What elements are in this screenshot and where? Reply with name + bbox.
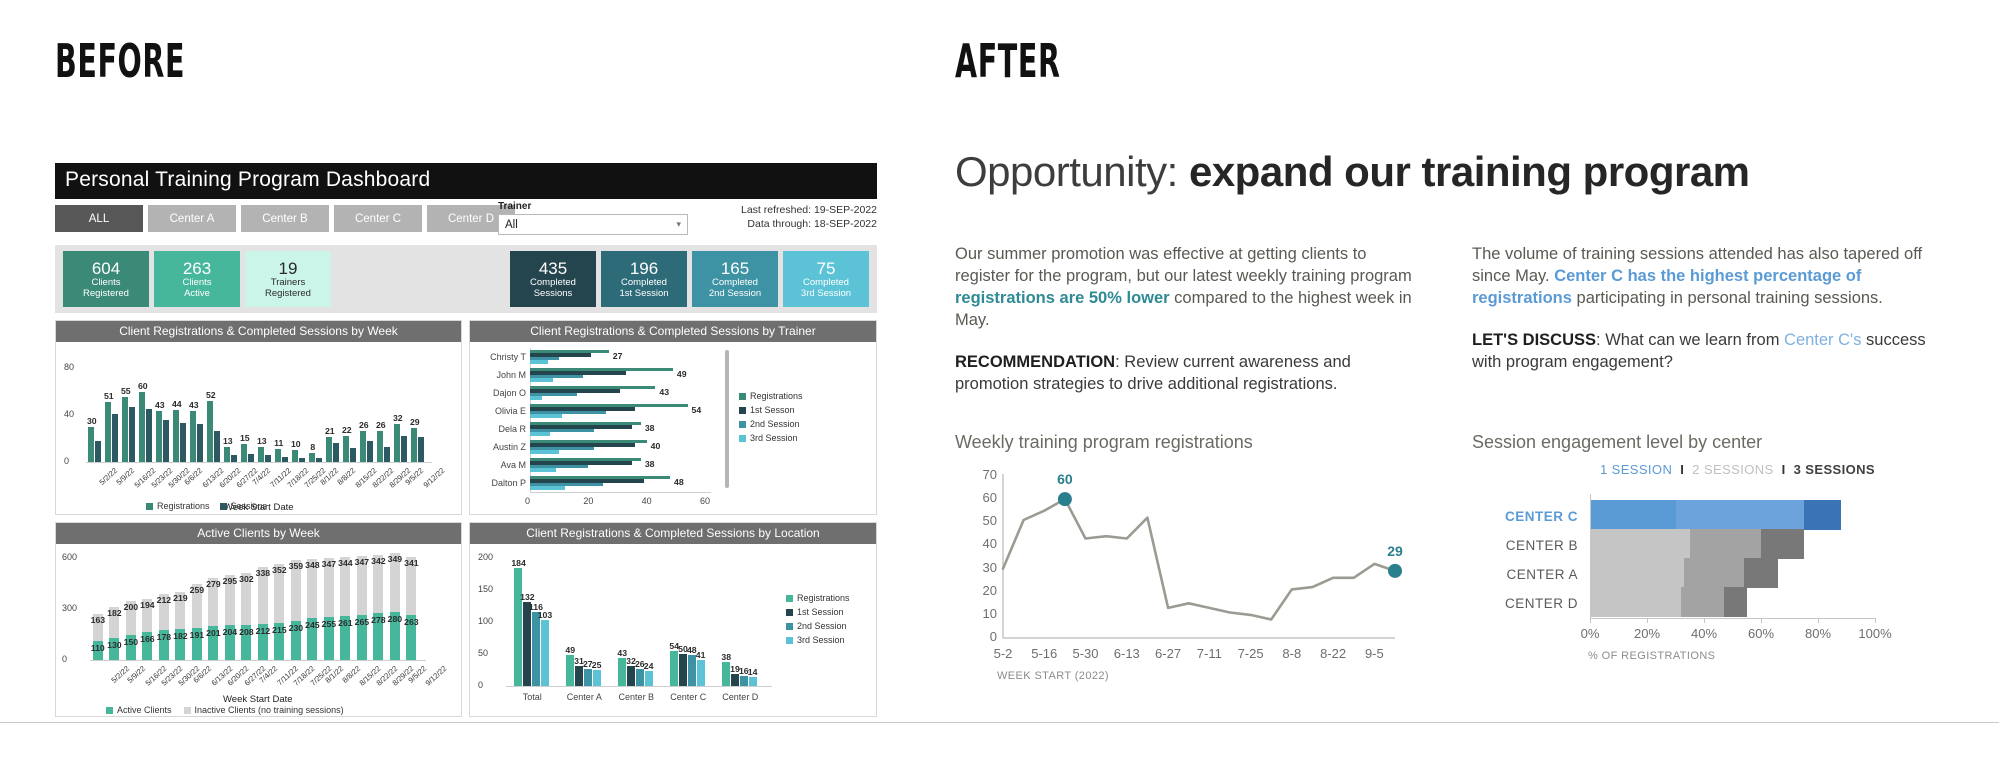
panel-active-clients: Active Clients by Week 03006001101635/2/… [55,522,462,717]
trainer-dropdown[interactable]: All ▾ [498,214,688,235]
bar-registrations [105,402,111,462]
bar-value-label: 51 [103,391,115,401]
legend-label: 1st Session [797,606,844,620]
bar-value-inactive: 279 [206,579,220,589]
bar-1st-session [679,654,687,686]
kpi-strip: 604ClientsRegistered263ClientsActive19Tr… [55,245,877,313]
bar-value-label: 55 [120,386,132,396]
y-axis-tick: 0 [62,654,67,664]
last-refreshed-text: Last refreshed: 19-SEP-2022 [741,203,877,217]
bar-registrations [343,436,349,462]
y-axis-line [1590,494,1591,618]
tab-center-b[interactable]: Center B [241,205,329,232]
bar-registrations [309,453,315,462]
legend-separator: I [1672,462,1692,477]
bar-value-label: 10 [290,439,302,449]
kpi-card-1: 263ClientsActive [154,251,240,307]
bar-value-active: 204 [223,627,237,637]
x-axis-label: % OF REGISTRATIONS [1588,650,1715,662]
bar-value-label: 132 [520,592,534,602]
page-title: Opportunity: expand our training program [955,148,1965,196]
bar-value-inactive: 219 [173,593,187,603]
bar-registrations [224,447,230,462]
legend-swatch [786,595,793,602]
legend-label: 2nd Session [797,620,847,634]
chevron-down-icon: ▾ [676,219,681,230]
legend-item: Registrations [739,390,803,404]
bar-registrations [156,411,162,462]
line-marker [1388,564,1402,578]
legend-item: 3rd Session [786,634,850,648]
insight-paragraph-2: The volume of training sessions attended… [1472,244,1942,310]
bar-segment [530,486,565,489]
bar-value-inactive: 338 [256,568,270,578]
kpi-caption-line1: Trainers [271,278,306,289]
legend-swatch [739,421,746,428]
bar-value-label: 49 [677,369,687,379]
bar-registrations [292,450,298,462]
panel-title-by-week: Client Registrations & Completed Session… [56,321,461,342]
x-axis-line [506,686,772,687]
bar-value-label: 103 [538,610,552,620]
legend-label: 1st Sesson [750,404,795,418]
bar-value-active: 215 [272,625,286,635]
chart-legend: Active ClientsInactive Clients (no train… [106,704,344,718]
legend-label: Registrations [797,592,850,606]
y-axis-tick: 50 [973,513,997,528]
bar-value-inactive: 359 [289,561,303,571]
bar-segment [530,378,553,381]
tab-center-a[interactable]: Center A [148,205,236,232]
bar-row-label: CENTER B [1472,538,1578,553]
x-axis-tick: 7-11 [1189,646,1229,661]
bar-segment [530,396,542,399]
y-axis-tick: 10 [973,606,997,621]
legend-label: 3rd Session [750,432,798,446]
discuss-label: LET'S DISCUSS [1472,331,1596,349]
y-axis-tick: 30 [973,560,997,575]
kpi-value: 75 [817,259,836,278]
bar-value-inactive: 163 [91,615,105,625]
y-axis-tick: 600 [62,552,77,562]
before-section-label: BEFORE [55,38,185,84]
data-through-text: Data through: 18-SEP-2022 [741,217,877,231]
chart-legend: Registrations1st Sesson2nd Session3rd Se… [739,390,803,446]
bar-value-label: 40 [651,441,661,451]
legend-item: 3rd Session [739,432,803,446]
tab-all[interactable]: ALL [55,205,143,232]
kpi-value: 604 [92,259,120,278]
bar-value-label: 54 [692,405,702,415]
bar-registrations [241,444,247,462]
bar-value-active: 208 [239,627,253,637]
kpi-card-session-2: 165Completed2nd Session [692,251,778,307]
x-axis-tick: 6-13 [1107,646,1147,661]
tab-center-c[interactable]: Center C [334,205,422,232]
x-axis-tick: 60 [700,496,710,506]
kpi-caption-line1: Clients [182,278,211,289]
x-axis-line [1590,618,1875,619]
chart-legend: RegistrationsSessions [146,500,267,514]
x-axis-tickmark [1875,618,1876,623]
dashboard-panel: Personal Training Program Dashboard ALL … [55,163,877,717]
x-axis-tick: 0% [1566,626,1614,641]
y-axis-tick: 100 [478,616,493,626]
legend-swatch [184,707,191,714]
panel-registrations-by-location: Client Registrations & Completed Session… [469,522,877,717]
bar-registrations [670,651,678,686]
x-axis-tickmark [1818,618,1819,623]
bar-value-active: 280 [388,614,402,624]
bar-value-label: 22 [341,425,353,435]
x-axis-tick: 20% [1623,626,1671,641]
discuss-paragraph: LET'S DISCUSS: What can we learn from Ce… [1472,330,1942,374]
insight-p2-part-b: participating in personal training sessi… [1572,289,1883,307]
slide-canvas: BEFORE AFTER Personal Training Program D… [0,0,1999,761]
bar-value-label: 32 [392,413,404,423]
bar-registrations [207,401,213,462]
legend-item: Registrations [786,592,850,606]
kpi-caption-line1: Completed [712,278,758,289]
weekly-registrations-line-chart: 0102030405060705-25-165-306-136-277-117-… [955,462,1425,692]
bar-registrations [258,447,264,462]
kpi-caption-line1: Completed [621,278,667,289]
kpi-caption-line2: 1st Session [619,289,668,300]
bar-2nd-session [740,676,748,686]
bar-row-label: CENTER A [1472,567,1578,582]
x-axis-tick: 9/12/22 [421,466,446,490]
panel-registrations-by-trainer: Client Registrations & Completed Session… [469,320,877,515]
bar-1st-session [523,602,531,686]
bar-value-label: 11 [273,438,285,448]
panel-title-active-clients: Active Clients by Week [56,523,461,544]
x-axis-tick: Center A [558,692,610,702]
x-axis-tick: 40 [642,496,652,506]
bar-value-inactive: 344 [338,558,352,568]
bar-3rd-session [593,670,601,686]
bar-value-label: 49 [563,645,577,655]
bar-registrations [360,431,366,462]
bar-segment-2 [1681,587,1724,617]
bar-registrations [394,424,400,462]
bar-value-label: 38 [645,423,655,433]
bar-value-inactive: 302 [239,574,253,584]
bar-value-active: 265 [355,617,369,627]
x-axis-tick: 8-8 [1272,646,1312,661]
legend-swatch [786,637,793,644]
recommendation-label: RECOMMENDATION [955,353,1115,371]
x-axis-tick: Total [506,692,558,702]
kpi-caption-line1: Clients [91,278,120,289]
y-axis-tick: 0 [64,456,69,466]
x-axis-line [90,660,426,661]
kpi-caption-line2: Registered [265,289,311,300]
bar-sessions [95,441,101,462]
bar-segment-1 [1590,500,1676,530]
bar-value-label: 60 [137,381,149,391]
x-axis-tickmark [1590,618,1591,623]
session-engagement-chart: 1 SESSION I 2 SESSIONS I 3 SESSIONSCENTE… [1472,462,1942,692]
bar-segment-3 [1724,587,1747,617]
bar-value-inactive: 352 [272,565,286,575]
x-axis-tick: 20 [583,496,593,506]
legend-label: Active Clients [117,704,172,718]
x-axis-tick: 5-30 [1066,646,1106,661]
panel-title-by-trainer: Client Registrations & Completed Session… [470,321,876,342]
y-axis-tick: 80 [64,362,74,372]
bar-value-active: 166 [140,634,154,644]
kpi-caption-line2: 3rd Session [801,289,851,300]
trainer-name: Ava M [474,460,526,470]
kpi-card-session-3: 75Completed3rd Session [783,251,869,307]
y-axis-tick: 0 [478,680,483,690]
legend-swatch [106,707,113,714]
legend-item: Inactive Clients (no training sessions) [184,704,344,718]
legend-item: 1st Sesson [739,404,803,418]
bar-2nd-session [584,669,592,686]
y-axis-tick: 20 [973,583,997,598]
legend-label: 3 SESSIONS [1794,462,1875,477]
legend-label: 3rd Session [797,634,845,648]
bar-registrations [411,428,417,462]
chart-active-clients: 03006001101635/2/221301825/9/221502005/1… [56,544,461,716]
bar-sessions [265,455,271,462]
bar-row-label: CENTER C [1472,509,1578,524]
x-axis-tick: 5-2 [983,646,1023,661]
x-axis-tick: Center C [662,692,714,702]
bar-2nd-session [532,612,540,686]
insight-text-left: Our summer promotion was effective at ge… [955,244,1425,416]
bar-sessions [367,441,373,462]
bar-value-label: 21 [324,426,336,436]
x-axis-tickmark [1704,618,1705,623]
line-value-label: 29 [1379,543,1411,559]
y-axis-tick: 40 [64,409,74,419]
bar-registrations [377,431,383,462]
bar-value-active: 182 [173,631,187,641]
bar-segment-1 [1590,529,1690,559]
panel-title-by-location: Client Registrations & Completed Session… [470,523,876,544]
bar-value-label: 26 [375,420,387,430]
legend-item: Active Clients [106,704,172,718]
bar-segment [530,468,556,471]
bar-segment [530,450,559,453]
x-axis-tick: 9/12/22 [424,664,449,688]
bar-value-label: 15 [239,433,251,443]
recommendation-paragraph: RECOMMENDATION: Review current awareness… [955,352,1425,396]
bar-registrations [326,437,332,462]
bar-sessions [350,448,356,462]
bar-segment [530,432,550,435]
y-axis-tick: 60 [973,490,997,505]
x-axis-tick: 80% [1794,626,1842,641]
bar-segment-3 [1744,558,1778,588]
bar-value-label: 38 [645,459,655,469]
x-axis-tickmark [1647,618,1648,623]
bar-sessions [129,407,135,462]
bar-segment-1 [1590,558,1684,588]
kpi-value: 263 [183,259,211,278]
y-axis-tick: 40 [973,536,997,551]
legend-swatch [146,503,153,510]
bar-sessions [180,423,186,462]
legend-swatch [739,435,746,442]
y-axis-tick: 0 [973,629,997,644]
x-axis-tick: 40% [1680,626,1728,641]
bar-registrations [190,411,196,462]
kpi-caption-line2: Registered [83,289,129,300]
bar-value-inactive: 348 [305,560,319,570]
discuss-accent: Center C's [1784,331,1861,349]
bar-value-label: 43 [659,387,669,397]
x-axis-label: WEEK START (2022) [997,670,1109,682]
bar-registrations [139,392,145,463]
bar-3rd-session [541,620,549,686]
legend-label: Sessions [231,500,268,514]
bar-sessions [384,447,390,462]
bar-value-active: 110 [91,643,105,653]
bar-value-active: 263 [404,617,418,627]
bar-registrations [88,427,94,462]
bar-3rd-session [749,677,757,686]
legend-label: Registrations [157,500,210,514]
bar-value-label: 14 [746,667,760,677]
bar-value-label: 25 [590,660,604,670]
bar-sessions [231,455,237,462]
kpi-caption-line1: Completed [530,278,576,289]
bar-value-label: 24 [642,661,656,671]
bar-value-label: 48 [674,477,684,487]
bar-value-active: 201 [206,628,220,638]
stacked-chart-legend: 1 SESSION I 2 SESSIONS I 3 SESSIONS [1600,462,1875,477]
bar-value-active: 278 [371,615,385,625]
bar-registrations [173,410,179,462]
bar-value-label: 41 [694,650,708,660]
line-value-label: 60 [1049,471,1081,487]
kpi-value: 435 [539,259,567,278]
x-axis-line [530,492,711,493]
trainer-name: John M [474,370,526,380]
bar-value-inactive: 349 [388,554,402,564]
bar-value-inactive: 347 [322,559,336,569]
bar-sessions [248,454,254,462]
y-axis-tick: 200 [478,552,493,562]
bar-sessions [214,431,220,462]
insight-p1-accent: registrations are 50% lower [955,289,1170,307]
trainer-name: Dela R [474,424,526,434]
bar-sessions [333,443,339,462]
bar-value-label: 43 [154,400,166,410]
scrollbar-thumb[interactable] [725,350,729,488]
discuss-part-a: : What can we learn from [1596,331,1784,349]
bar-value-label: 29 [409,417,421,427]
headline-bold: expand our training program [1189,148,1750,195]
legend-swatch [220,503,227,510]
x-axis-tick: 0 [525,496,530,506]
dashboard-charts: Client Registrations & Completed Session… [55,320,877,717]
y-axis-tick: 300 [62,603,77,613]
x-axis-tickmark [1761,618,1762,623]
bar-value-label: 38 [719,652,733,662]
x-axis-tick: 9-5 [1354,646,1394,661]
bar-value-label: 184 [511,558,525,568]
y-axis-tick: 50 [478,648,488,658]
x-axis-tick: 8-22 [1313,646,1353,661]
bar-value-label: 26 [358,420,370,430]
kpi-group-sessions: 435CompletedSessions196Completed1st Sess… [510,251,869,307]
legend-label: 2nd Session [750,418,800,432]
trainer-dropdown-value: All [505,219,518,231]
bar-value-active: 178 [157,632,171,642]
bar-sessions [418,437,424,462]
insight-text-right: The volume of training sessions attended… [1472,244,1942,394]
legend-item: 2nd Session [739,418,803,432]
stacked-chart-title: Session engagement level by center [1472,432,1762,453]
bar-value-inactive: 194 [140,600,154,610]
bar-value-inactive: 200 [124,602,138,612]
bar-segment [530,360,548,363]
bar-value-inactive: 259 [190,585,204,595]
x-axis-tick: Center B [610,692,662,702]
bar-value-label: 43 [188,400,200,410]
bar-value-label: 13 [256,436,268,446]
x-axis-tick: 100% [1851,626,1899,641]
trainer-name: Dalton P [474,478,526,488]
bar-value-active: 212 [256,626,270,636]
bar-value-inactive: 295 [223,576,237,586]
x-axis-tick: 6-27 [1148,646,1188,661]
bar-value-active: 150 [124,637,138,647]
y-axis-tick: 70 [973,467,997,482]
line-marker [1058,492,1072,506]
bar-sessions [112,414,118,462]
bar-segment-3 [1761,529,1804,559]
legend-item: Sessions [220,500,268,514]
trainer-filter-label: Trainer [498,201,688,212]
trainer-name: Austin Z [474,442,526,452]
kpi-caption-line2: 2nd Session [709,289,761,300]
bar-value-label: 52 [205,390,217,400]
bar-value-inactive: 212 [157,595,171,605]
kpi-caption-line1: Completed [803,278,849,289]
line-chart-title: Weekly training program registrations [955,432,1253,453]
bar-3rd-session [645,671,653,686]
bar-segment-2 [1690,529,1761,559]
legend-item: Registrations [146,500,210,514]
bar-value-inactive: 342 [371,556,385,566]
kpi-card-session-1: 196Completed1st Session [601,251,687,307]
bar-sessions [401,436,407,462]
bar-value-inactive: 182 [107,608,121,618]
bar-sessions [316,458,322,462]
kpi-value: 196 [630,259,658,278]
bar-sessions [282,457,288,462]
bar-value-label: 8 [307,442,319,452]
bar-segment-2 [1676,500,1804,530]
kpi-caption-line2: Sessions [534,289,573,300]
after-section-label: AFTER [955,38,1061,84]
legend-label: Inactive Clients (no training sessions) [195,704,344,718]
kpi-card-0: 604ClientsRegistered [63,251,149,307]
kpi-value: 19 [279,259,298,278]
x-axis-line [86,462,432,463]
kpi-card-2: 19TrainersRegistered [245,251,331,307]
bar-value-active: 255 [322,619,336,629]
x-axis-tick: Center D [714,692,766,702]
bottom-divider [0,722,1999,723]
trainer-name: Olivia E [474,406,526,416]
bar-value-label: 27 [613,351,623,361]
